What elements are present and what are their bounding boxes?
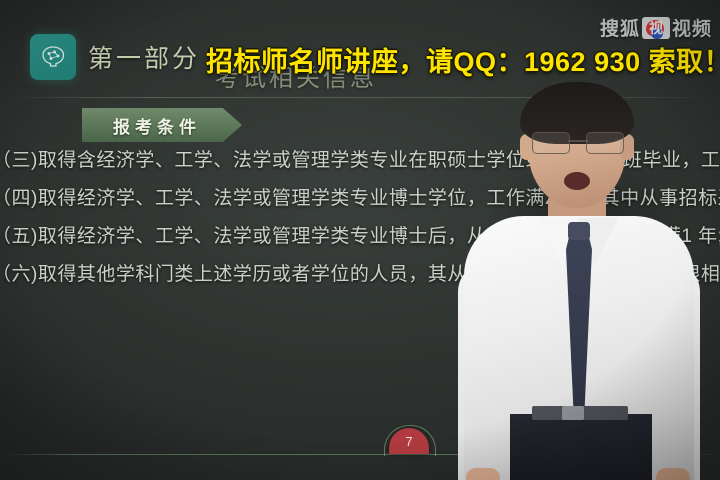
brain-icon xyxy=(30,34,76,80)
page-number-label: 7 xyxy=(405,434,412,449)
subsection-banner-label: 报考条件 xyxy=(113,113,211,138)
video-player-frame[interactable]: 第一部分 考试相关信息 报考条件 （三)取得含经济学、工学、法学或管理学类专业在… xyxy=(0,0,720,480)
presenter-hand-left xyxy=(466,468,500,480)
overlay-ad-text: 招标师名师讲座，请QQ：1962 930 索取！ xyxy=(206,40,720,79)
presenter-trousers xyxy=(510,414,652,480)
presenter-belt-buckle xyxy=(562,406,584,420)
watermark-brand-label: 搜狐 xyxy=(600,14,640,41)
glasses-icon xyxy=(532,132,624,152)
watermark-brand-suffix: 视频 xyxy=(672,14,712,41)
presenter-mouth xyxy=(564,172,590,190)
sohu-logo-icon: 视 xyxy=(642,17,670,39)
watermark-logo-glyph: 视 xyxy=(649,18,663,38)
slide-header: 第一部分 xyxy=(30,34,200,80)
slide-part-title: 第一部分 xyxy=(88,39,200,75)
sohu-watermark: 搜狐 视 视频 xyxy=(600,14,712,41)
presenter-hand-right xyxy=(656,468,690,480)
subsection-banner: 报考条件 xyxy=(82,108,242,142)
presenter-tie-knot xyxy=(568,222,590,240)
presenter-figure xyxy=(440,76,720,480)
